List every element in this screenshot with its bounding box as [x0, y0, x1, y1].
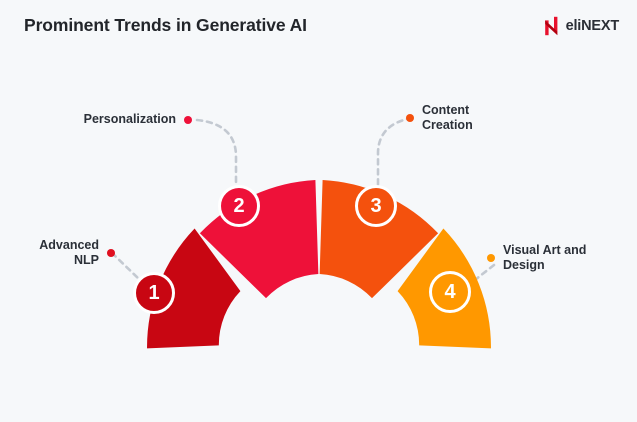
- step-badge-1-number: 1: [148, 283, 159, 303]
- callout-advanced-nlp-label: Advanced NLP: [39, 238, 99, 268]
- donut-svg: [0, 0, 637, 422]
- callout-advanced-nlp: Advanced NLP: [10, 238, 115, 268]
- callout-personalization-label: Personalization: [84, 112, 176, 127]
- half-donut-chart: 1 2 3 4 Advanced NLP Personalization Con…: [0, 0, 637, 422]
- callout-content-creation-dot-icon: [406, 114, 414, 122]
- callout-content-creation: Content Creation: [406, 103, 576, 133]
- callout-personalization: Personalization: [52, 112, 192, 127]
- step-badge-2[interactable]: 2: [218, 185, 260, 227]
- step-badge-4-number: 4: [444, 282, 455, 302]
- infographic-canvas: Prominent Trends in Generative AI eliNEX…: [0, 0, 637, 422]
- callout-visual-art-and-design-label: Visual Art and Design: [503, 243, 586, 273]
- step-badge-3-number: 3: [370, 196, 381, 216]
- callout-visual-art-and-design: Visual Art and Design: [487, 243, 637, 273]
- step-badge-2-number: 2: [233, 196, 244, 216]
- step-badge-1[interactable]: 1: [133, 272, 175, 314]
- connector-line-2: [197, 120, 236, 188]
- connector-line-1: [112, 253, 140, 280]
- callout-visual-art-and-design-dot-icon: [487, 254, 495, 262]
- donut-segments: [147, 180, 491, 348]
- callout-personalization-dot-icon: [184, 116, 192, 124]
- callout-content-creation-label: Content Creation: [422, 103, 473, 133]
- callout-advanced-nlp-dot-icon: [107, 249, 115, 257]
- step-badge-4[interactable]: 4: [429, 271, 471, 313]
- step-badge-3[interactable]: 3: [355, 185, 397, 227]
